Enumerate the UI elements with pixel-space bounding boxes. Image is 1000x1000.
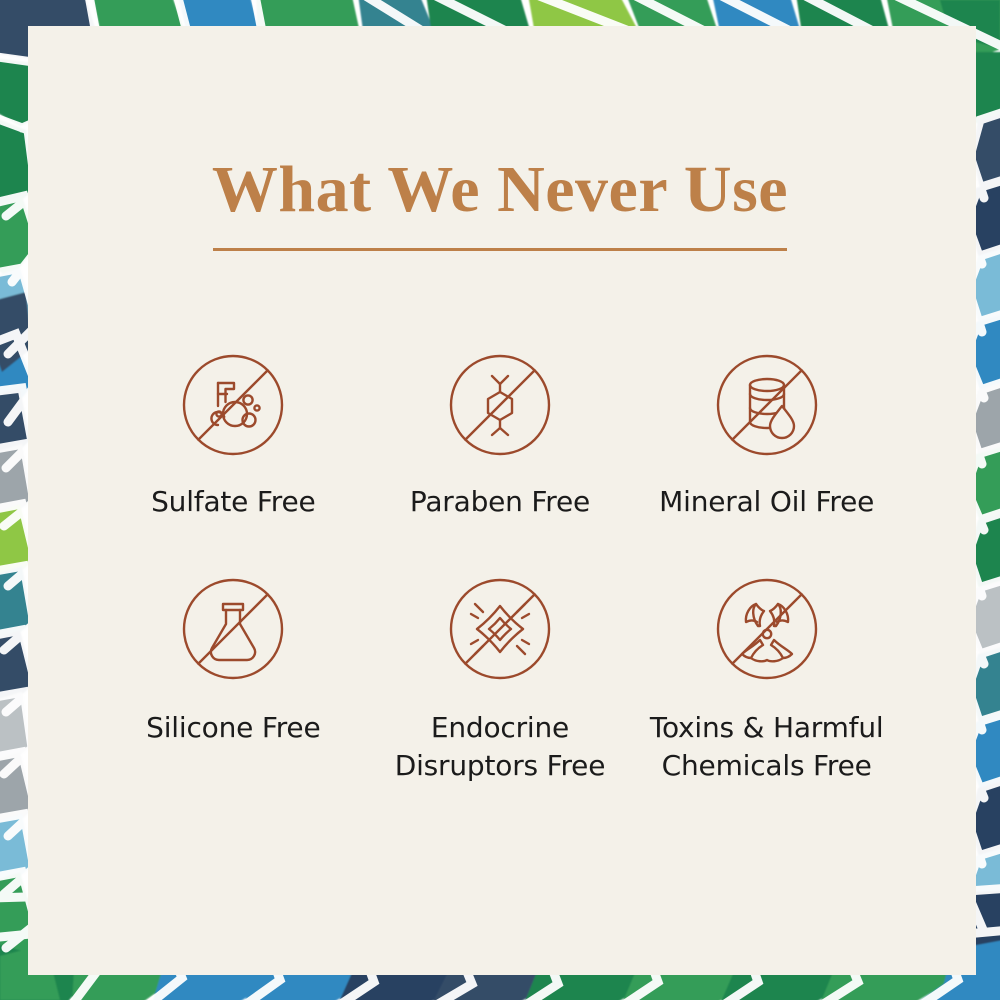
no-silicone-icon <box>178 574 288 684</box>
grid-item-label: Silicone Free <box>146 709 320 747</box>
no-endocrine-disruptor-icon <box>445 574 555 684</box>
page-header: What We Never Use <box>0 155 1000 251</box>
grid-item-endocrine-disruptors-free: Endocrine Disruptors Free <box>367 569 634 785</box>
free-from-grid: Sulfate Free P <box>100 345 900 784</box>
grid-item-sulfate-free: Sulfate Free <box>100 345 367 521</box>
no-sulfate-icon <box>178 350 288 460</box>
grid-item-label: Paraben Free <box>410 483 590 521</box>
grid-item-label: Endocrine Disruptors Free <box>395 709 606 785</box>
icon-slot <box>173 569 293 689</box>
grid-item-label: Sulfate Free <box>151 483 315 521</box>
no-mineral-oil-icon <box>712 350 822 460</box>
icon-slot <box>173 345 293 465</box>
no-toxins-icon <box>712 574 822 684</box>
icon-slot <box>440 569 560 689</box>
icon-slot <box>707 569 827 689</box>
grid-item-toxins-chemicals-free: Toxins & Harmful Chemicals Free <box>633 569 900 785</box>
icon-slot <box>707 345 827 465</box>
infographic-canvas: What We Never Use <box>0 0 1000 1000</box>
grid-item-mineral-oil-free: Mineral Oil Free <box>633 345 900 521</box>
grid-item-paraben-free: Paraben Free <box>367 345 634 521</box>
icon-slot <box>440 345 560 465</box>
page-title: What We Never Use <box>0 155 1000 224</box>
grid-item-label: Mineral Oil Free <box>659 483 874 521</box>
grid-item-silicone-free: Silicone Free <box>100 569 367 785</box>
title-underline-rule <box>213 248 787 251</box>
no-paraben-icon <box>445 350 555 460</box>
grid-item-label: Toxins & Harmful Chemicals Free <box>650 709 884 785</box>
